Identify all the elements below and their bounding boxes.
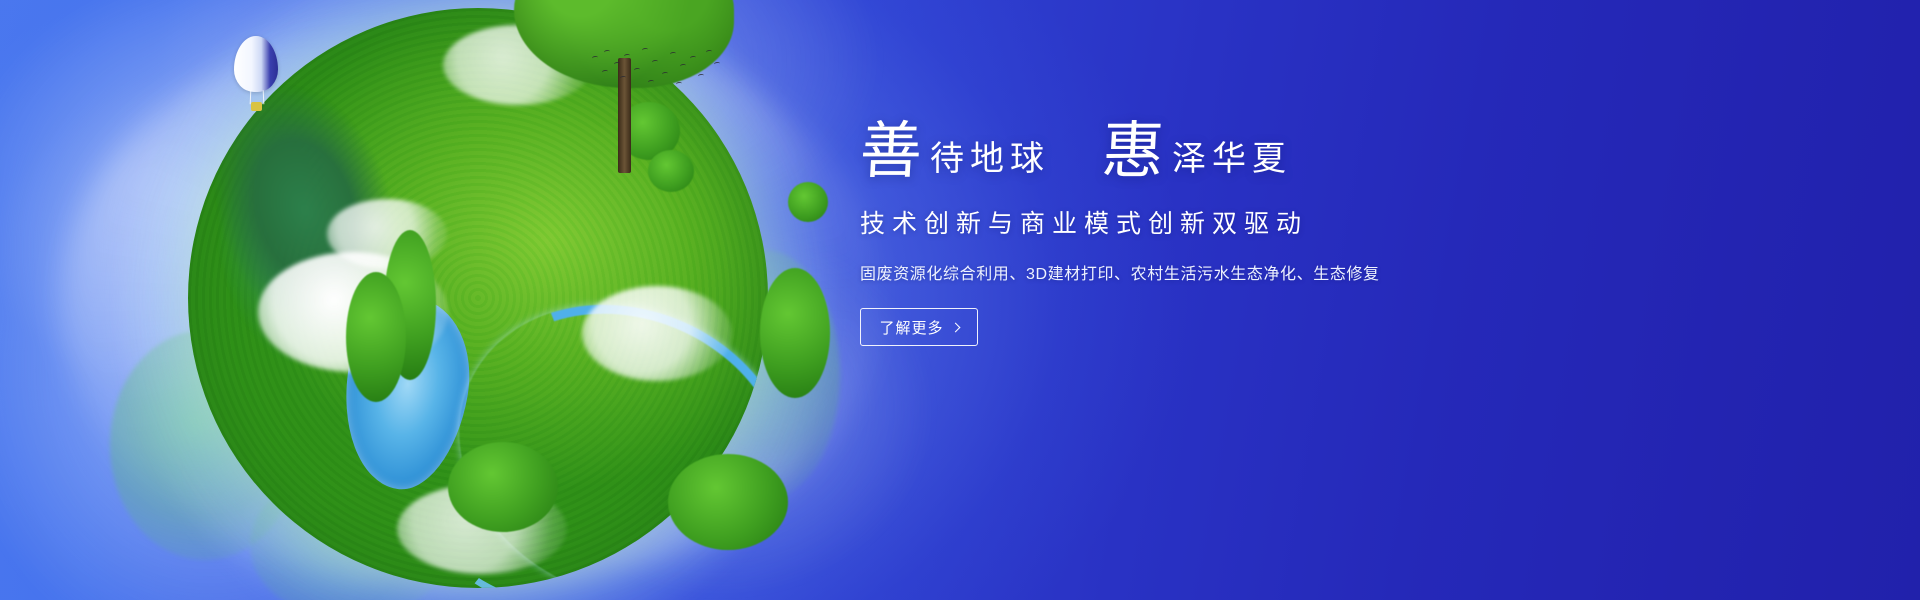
headline-text-daidiqiu: 待地球 [922,142,1050,182]
headline-char-hui: 惠 [1100,120,1165,182]
banner-text-block: 善 待地球 惠 泽华夏 技术创新与商业模式创新双驱动 固废资源化综合利用、3D建… [860,120,1480,346]
headline-text-zehuaxia: 泽华夏 [1164,142,1292,182]
chevron-right-icon [950,322,960,332]
hero-banner: 善 待地球 惠 泽华夏 技术创新与商业模式创新双驱动 固废资源化综合利用、3D建… [0,0,1920,600]
balloon-envelope [234,36,278,92]
globe-tree-small-8 [788,182,828,222]
banner-headline: 善 待地球 惠 泽华夏 [860,120,1480,182]
globe-tree-small-7 [668,454,788,550]
balloon-basket [251,102,262,111]
headline-char-shan: 善 [858,120,923,182]
globe-tree-small-4 [346,272,406,402]
globe-tree-small-5 [760,268,830,398]
learn-more-button[interactable]: 了解更多 [860,308,978,346]
learn-more-label: 了解更多 [879,317,943,338]
hot-air-balloon-icon [234,36,278,122]
birds-flock-icon [590,46,720,92]
globe-tree-small-6 [448,442,558,532]
banner-description: 固废资源化综合利用、3D建材打印、农村生活污水生态净化、生态修复 [860,260,1480,284]
globe-cloud-3 [582,286,732,381]
banner-subtitle: 技术创新与商业模式创新双驱动 [860,204,1480,240]
